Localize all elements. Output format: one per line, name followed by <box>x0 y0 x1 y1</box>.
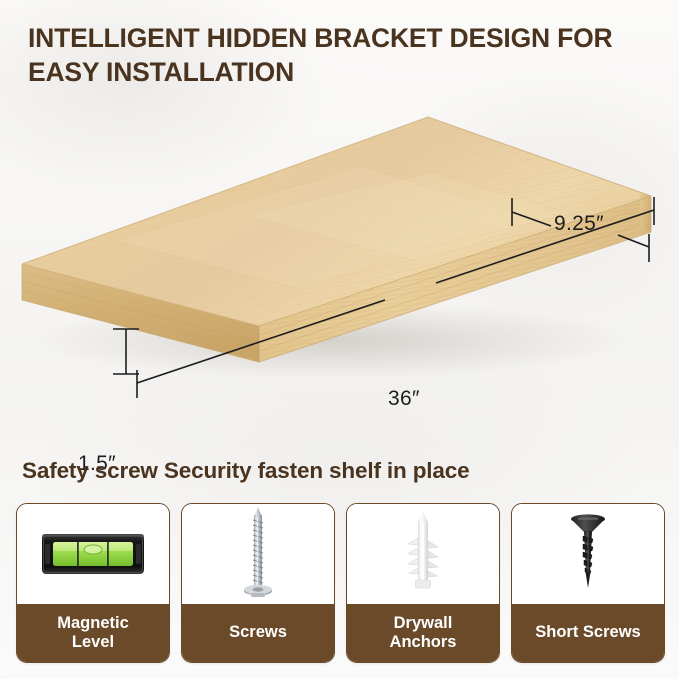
long-screw-icon <box>235 505 281 603</box>
accessory-card-magnetic-level[interactable]: Magnetic Level <box>16 503 170 663</box>
card-image-area <box>182 504 334 604</box>
card-label-drywall-anchors: Drywall Anchors <box>347 604 499 662</box>
drywall-anchor-icon <box>399 508 447 600</box>
accessory-card-short-screws[interactable]: Short Screws <box>511 503 665 663</box>
card-image-area <box>512 504 664 604</box>
page-title: INTELLIGENT HIDDEN BRACKET DESIGN FOR EA… <box>28 22 668 90</box>
card-label-line-1: Short Screws <box>535 623 640 642</box>
card-label-line-1: Screws <box>229 623 287 642</box>
card-image-area <box>347 504 499 604</box>
magnetic-level-icon <box>41 531 145 577</box>
shelf-drawing <box>0 95 679 415</box>
product-illustration: 9.25″ 36″ 1.5″ <box>0 95 679 415</box>
card-label-screws: Screws <box>182 604 334 662</box>
card-label-short-screws: Short Screws <box>512 604 664 662</box>
accessory-card-screws[interactable]: Screws <box>181 503 335 663</box>
short-screw-icon <box>562 512 614 596</box>
dimension-label-width: 36″ <box>388 387 420 411</box>
card-label-line-2: Anchors <box>390 633 457 651</box>
accessory-card-list: Magnetic Level <box>16 503 666 663</box>
card-label-line-1: Drywall <box>394 614 453 632</box>
dimension-label-depth: 9.25″ <box>554 212 604 236</box>
card-label-line-2: Level <box>72 633 114 651</box>
card-label-magnetic-level: Magnetic Level <box>17 604 169 662</box>
card-image-area <box>17 504 169 604</box>
accessory-card-drywall-anchors[interactable]: Drywall Anchors <box>346 503 500 663</box>
card-label-line-1: Magnetic <box>57 614 129 632</box>
section-subtitle: Safety screw Security fasten shelf in pl… <box>22 458 470 484</box>
